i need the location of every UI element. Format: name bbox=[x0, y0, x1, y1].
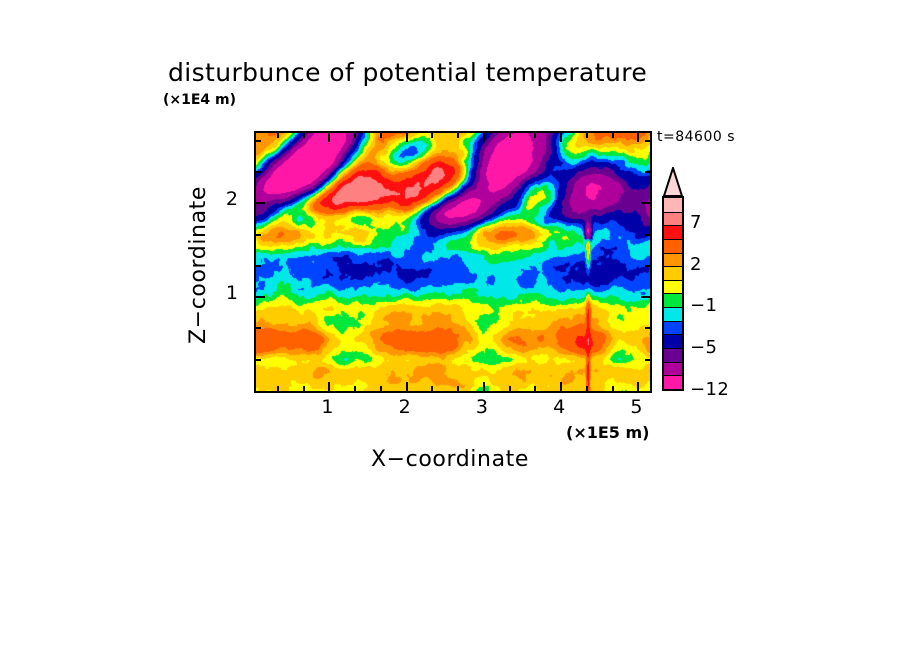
colorbar-band bbox=[664, 239, 682, 253]
contour-field bbox=[256, 133, 650, 391]
colorbar-extend-arrow-icon bbox=[662, 167, 684, 197]
colorbar-band bbox=[664, 375, 682, 389]
x-axis-title: X−coordinate bbox=[290, 447, 610, 472]
y-tick-right-minor bbox=[645, 327, 650, 329]
x-tick-top-minor bbox=[586, 133, 588, 138]
y-tick-major bbox=[256, 296, 265, 298]
colorbar bbox=[662, 167, 684, 391]
x-tick-minor bbox=[612, 386, 614, 391]
colorbar-band bbox=[664, 362, 682, 376]
x-tick-label: 2 bbox=[385, 396, 425, 418]
x-tick-major bbox=[560, 382, 562, 391]
x-tick-top-minor bbox=[354, 133, 356, 138]
y-tick-minor bbox=[256, 265, 261, 267]
x-tick-top-minor bbox=[612, 133, 614, 138]
colorbar-label: 7 bbox=[690, 212, 702, 233]
x-tick-top-minor bbox=[534, 133, 536, 138]
y-tick-right-minor bbox=[645, 265, 650, 267]
x-tick-minor bbox=[534, 386, 536, 391]
y-tick-minor bbox=[256, 234, 261, 236]
y-tick-minor bbox=[256, 171, 261, 173]
y-tick-minor bbox=[256, 327, 261, 329]
colorbar-band-stack bbox=[662, 196, 684, 391]
y-tick-right-minor bbox=[645, 171, 650, 173]
x-tick-minor bbox=[354, 386, 356, 391]
x-axis-units: (×1E5 m) bbox=[566, 423, 649, 442]
x-tick-minor bbox=[277, 386, 279, 391]
x-tick-major bbox=[637, 382, 639, 391]
y-tick-right-minor bbox=[645, 359, 650, 361]
x-tick-major bbox=[406, 382, 408, 391]
y-tick-right-major bbox=[641, 296, 650, 298]
page-title: disturbunce of potential temperature bbox=[168, 58, 768, 87]
y-tick-right-minor bbox=[645, 140, 650, 142]
y-tick-minor bbox=[256, 359, 261, 361]
colorbar-band bbox=[664, 253, 682, 267]
x-tick-minor bbox=[509, 386, 511, 391]
x-tick-minor bbox=[457, 386, 459, 391]
colorbar-label: −1 bbox=[690, 295, 717, 316]
x-tick-label: 1 bbox=[307, 396, 347, 418]
x-tick-top-major bbox=[483, 133, 485, 142]
x-tick-top-major bbox=[328, 133, 330, 142]
y-axis-title: Z−coordinate bbox=[186, 155, 208, 375]
x-tick-major bbox=[483, 382, 485, 391]
time-annotation: t=84600 s bbox=[657, 129, 735, 145]
x-tick-top-major bbox=[406, 133, 408, 142]
x-tick-top-minor bbox=[303, 133, 305, 138]
colorbar-band bbox=[664, 334, 682, 348]
y-tick-minor bbox=[256, 140, 261, 142]
contour-plot-area bbox=[254, 131, 652, 393]
x-tick-label: 5 bbox=[616, 396, 656, 418]
x-tick-top-minor bbox=[431, 133, 433, 138]
x-tick-top-minor bbox=[380, 133, 382, 138]
colorbar-band bbox=[664, 225, 682, 239]
x-tick-minor bbox=[586, 386, 588, 391]
x-tick-major bbox=[328, 382, 330, 391]
vertical-units-label: (×1E4 m) bbox=[163, 92, 236, 108]
colorbar-label: −12 bbox=[690, 379, 729, 400]
x-tick-top-minor bbox=[509, 133, 511, 138]
x-tick-label: 3 bbox=[462, 396, 502, 418]
colorbar-band bbox=[664, 321, 682, 335]
colorbar-label: −5 bbox=[690, 337, 717, 358]
colorbar-band bbox=[664, 280, 682, 294]
x-tick-minor bbox=[380, 386, 382, 391]
colorbar-band bbox=[664, 293, 682, 307]
colorbar-band bbox=[664, 212, 682, 226]
x-tick-top-minor bbox=[277, 133, 279, 138]
x-tick-minor bbox=[431, 386, 433, 391]
colorbar-band bbox=[664, 266, 682, 280]
colorbar-label: 2 bbox=[690, 254, 702, 275]
x-tick-minor bbox=[303, 386, 305, 391]
figure-canvas: disturbunce of potential temperature (×1… bbox=[0, 0, 904, 654]
y-tick-major bbox=[256, 202, 265, 204]
colorbar-band bbox=[664, 348, 682, 362]
x-tick-label: 4 bbox=[539, 396, 579, 418]
x-tick-top-major bbox=[637, 133, 639, 142]
y-tick-right-major bbox=[641, 202, 650, 204]
colorbar-band bbox=[664, 307, 682, 321]
y-tick-right-minor bbox=[645, 234, 650, 236]
x-tick-top-minor bbox=[457, 133, 459, 138]
x-tick-top-major bbox=[560, 133, 562, 142]
colorbar-band bbox=[664, 198, 682, 212]
